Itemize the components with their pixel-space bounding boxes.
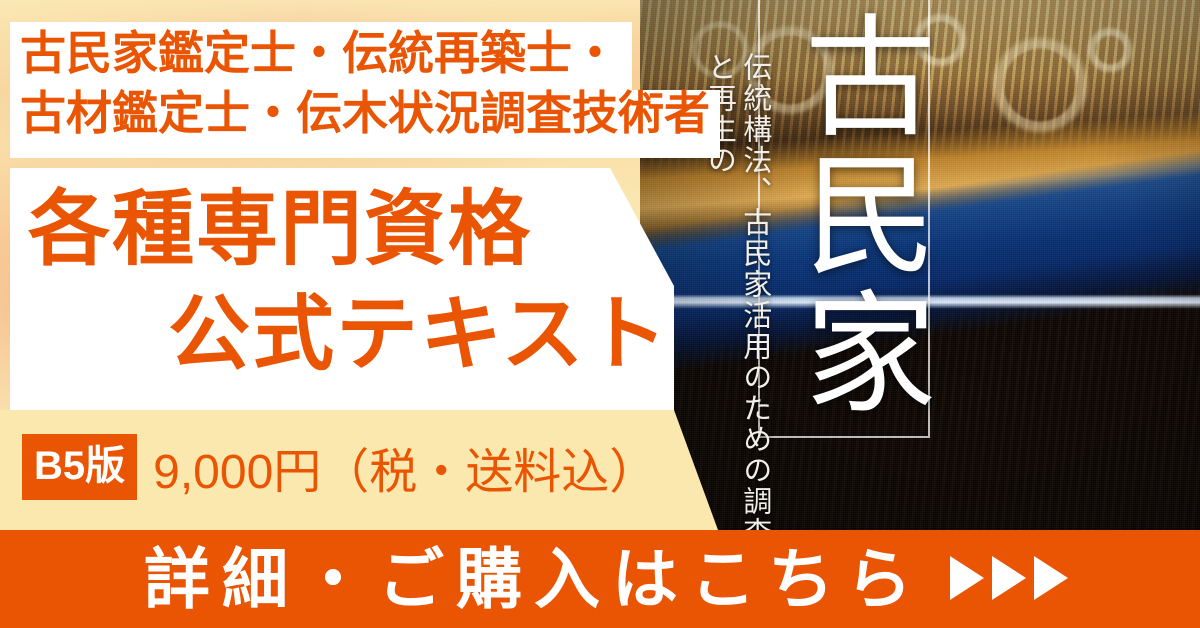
chevron-right-icon (1034, 556, 1068, 600)
cta-label: 詳細・ご購入はこちら (132, 546, 924, 612)
cta-arrows (950, 556, 1068, 602)
price-amount: 9,000円（税・送料込） (153, 432, 657, 502)
headline-line-1: 各種専門資格 (18, 178, 698, 283)
promo-banner: 古民家 伝統構法、古民家活用のための調査と再生の 古民家鑑定士・伝統再築士・ 古… (0, 0, 1200, 628)
chevron-right-icon (992, 556, 1026, 600)
headline-line-2: 公式テキスト (18, 283, 698, 388)
book-cover-title: 古民家 (788, 8, 928, 422)
cta-bar[interactable]: 詳細・ご購入はこちら (0, 530, 1200, 628)
size-badge: B5版 (22, 434, 137, 500)
qualifications-text: 古民家鑑定士・伝統再築士・ 古材鑑定士・伝木状況調査技術者 (20, 24, 730, 144)
price-row: B5版 9,000円（税・送料込） (22, 432, 657, 502)
headline-text: 各種専門資格 公式テキスト (18, 178, 698, 388)
chevron-right-icon (950, 556, 984, 600)
